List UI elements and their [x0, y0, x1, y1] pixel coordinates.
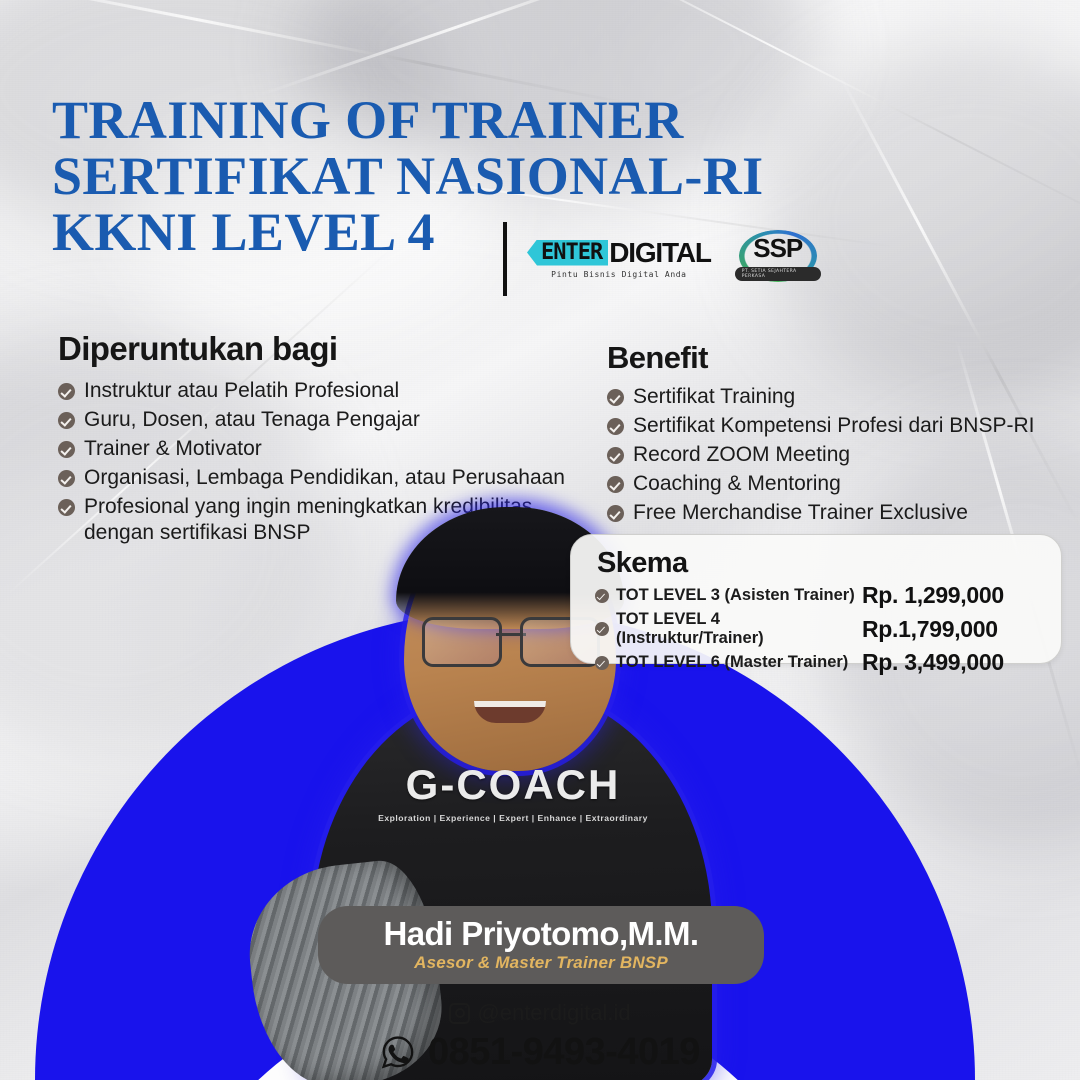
instagram-icon: [449, 1003, 470, 1024]
enter-digital-logo: ENTER DIGITAL Pintu Bisnis Digital Anda: [527, 240, 711, 279]
benefit-heading: Benefit: [607, 340, 1047, 376]
whatsapp-number: 0851-9493-4019: [428, 1031, 700, 1074]
check-circle-icon: [607, 389, 624, 406]
poster-canvas: TRAINING OF TRAINER SERTIFIKAT NASIONAL-…: [0, 0, 1080, 1080]
table-row: TOT LEVEL 4 (Instruktur/Trainer) Rp.1,79…: [595, 610, 1061, 648]
skema-price: Rp. 3,499,000: [862, 649, 1004, 676]
speaker-role: Asesor & Master Trainer BNSP: [414, 953, 668, 973]
list-item: Organisasi, Lembaga Pendidikan, atau Per…: [58, 465, 578, 491]
benefit-item-label: Sertifikat Training: [633, 384, 795, 410]
list-item: Guru, Dosen, atau Tenaga Pengajar: [58, 407, 578, 433]
skema-price: Rp.1,799,000: [862, 616, 998, 643]
check-circle-icon: [595, 589, 609, 603]
check-circle-icon: [595, 622, 609, 636]
logo-strip: ENTER DIGITAL Pintu Bisnis Digital Anda …: [527, 226, 821, 292]
ssp-subtitle: PT. SETIA SEJAHTERA PERKASA: [735, 267, 821, 281]
enter-digital-word: DIGITAL: [609, 240, 711, 266]
whatsapp-row[interactable]: 0851-9493-4019: [0, 1029, 1080, 1076]
shirt-graphic: G-COACH Exploration | Experience | Exper…: [352, 761, 674, 823]
skema-rows: TOT LEVEL 3 (Asisten Trainer) Rp. 1,299,…: [595, 582, 1061, 676]
audience-heading: Diperuntukan bagi: [58, 330, 578, 368]
speaker-name-banner: Hadi Priyotomo,M.M. Asesor & Master Trai…: [318, 906, 764, 984]
list-item: Sertifikat Training: [607, 384, 1047, 410]
list-item: Coaching & Mentoring: [607, 471, 1047, 497]
table-row: TOT LEVEL 6 (Master Trainer) Rp. 3,499,0…: [595, 649, 1061, 676]
title-line-2: SERTIFIKAT NASIONAL-RI: [52, 148, 692, 204]
skema-card: Skema TOT LEVEL 3 (Asisten Trainer) Rp. …: [570, 534, 1062, 664]
check-circle-icon: [595, 656, 609, 670]
list-item: Sertifikat Kompetensi Profesi dari BNSP-…: [607, 413, 1047, 439]
check-circle-icon: [607, 447, 624, 464]
check-circle-icon: [607, 476, 624, 493]
skema-level-label: TOT LEVEL 6 (Master Trainer): [616, 653, 862, 672]
skema-level-label: TOT LEVEL 3 (Asisten Trainer): [616, 586, 862, 605]
skema-heading: Skema: [597, 547, 1061, 580]
title-line-1: TRAINING OF TRAINER: [52, 92, 692, 148]
shirt-main-text: G-COACH: [352, 761, 674, 809]
header-divider: [503, 222, 507, 296]
audience-item-label: Organisasi, Lembaga Pendidikan, atau Per…: [84, 465, 565, 491]
whatsapp-icon: [380, 1034, 416, 1070]
speaker-mouth: [474, 701, 546, 723]
audience-item-label: Trainer & Motivator: [84, 436, 262, 462]
list-item: Instruktur atau Pelatih Profesional: [58, 378, 578, 404]
check-circle-icon: [58, 470, 75, 487]
ssp-logo: SSP PT. SETIA SEJAHTERA PERKASA: [735, 226, 821, 292]
enter-digital-tagline: Pintu Bisnis Digital Anda: [551, 270, 686, 279]
shirt-sub-text: Exploration | Experience | Expert | Enha…: [352, 813, 674, 823]
benefit-item-label: Sertifikat Kompetensi Profesi dari BNSP-…: [633, 413, 1034, 439]
enter-digital-mark: ENTER: [527, 240, 608, 266]
check-circle-icon: [58, 412, 75, 429]
skema-price: Rp. 1,299,000: [862, 582, 1004, 609]
contact-block: @enterdigital.id 0851-9493-4019: [0, 1000, 1080, 1075]
skema-level-label: TOT LEVEL 4 (Instruktur/Trainer): [616, 610, 862, 648]
list-item: Record ZOOM Meeting: [607, 442, 1047, 468]
list-item: Trainer & Motivator: [58, 436, 578, 462]
speaker-name: Hadi Priyotomo,M.M.: [384, 917, 699, 951]
check-circle-icon: [58, 441, 75, 458]
check-circle-icon: [58, 383, 75, 400]
check-circle-icon: [607, 418, 624, 435]
benefit-item-label: Record ZOOM Meeting: [633, 442, 850, 468]
audience-item-label: Guru, Dosen, atau Tenaga Pengajar: [84, 407, 420, 433]
table-row: TOT LEVEL 3 (Asisten Trainer) Rp. 1,299,…: [595, 582, 1061, 609]
benefit-item-label: Coaching & Mentoring: [633, 471, 841, 497]
check-circle-icon: [58, 499, 75, 516]
instagram-handle: @enterdigital.id: [477, 1000, 630, 1026]
ssp-wordmark: SSP: [753, 233, 802, 264]
instagram-row[interactable]: @enterdigital.id: [0, 1000, 1080, 1029]
audience-item-label: Instruktur atau Pelatih Profesional: [84, 378, 399, 404]
benefit-section: Benefit Sertifikat Training Sertifikat K…: [607, 340, 1047, 529]
